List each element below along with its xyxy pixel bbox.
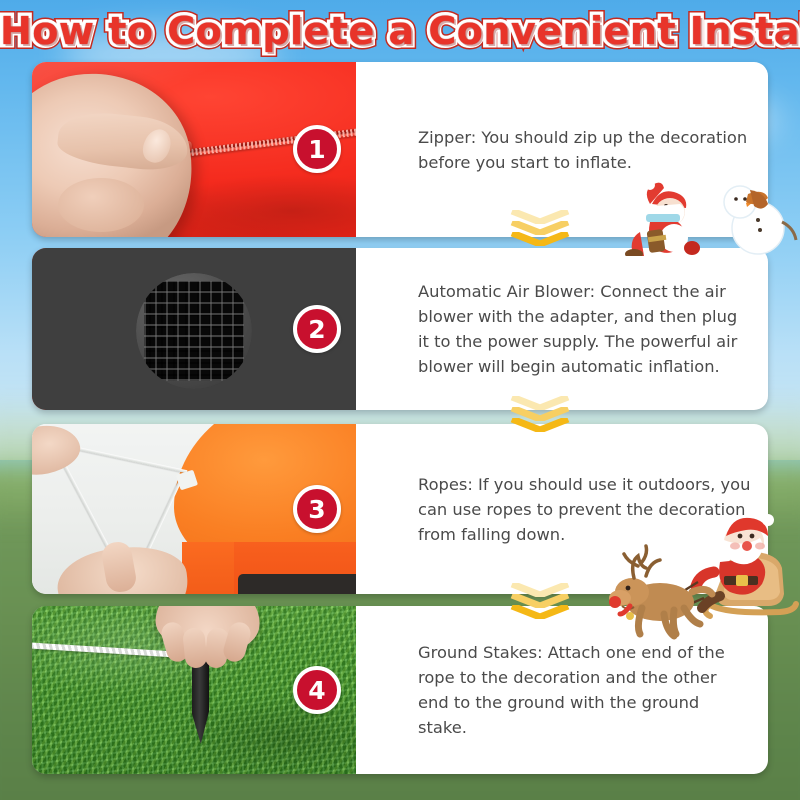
separator-chevrons-1 — [510, 210, 570, 244]
step-text-container-2: Automatic Air Blower: Connect the air bl… — [356, 248, 768, 410]
chevron-down-icon — [510, 605, 570, 619]
chevron-down-icon — [510, 232, 570, 246]
santa-and-snowman-illustration — [600, 176, 800, 256]
page-title: How to Complete a Convenient Install? — [0, 8, 800, 54]
step-number-badge-4: 4 — [293, 666, 341, 714]
step-description-1: Zipper: You should zip up the decoration… — [418, 125, 752, 175]
separator-chevrons-3 — [510, 583, 570, 617]
step-description-2: Automatic Air Blower: Connect the air bl… — [418, 279, 752, 379]
step-number-badge-1: 1 — [293, 125, 341, 173]
step-number-badge-3: 3 — [293, 485, 341, 533]
step-card-2[interactable]: Automatic Air Blower: Connect the air bl… — [32, 248, 768, 410]
chevron-down-icon — [510, 418, 570, 432]
step-description-4: Ground Stakes: Attach one end of the rop… — [418, 640, 752, 740]
santa-sleigh-reindeer-illustration — [608, 506, 800, 642]
step-number-badge-2: 2 — [293, 305, 341, 353]
poster-root: How to Complete a Convenient Install? Ho… — [0, 0, 800, 800]
separator-chevrons-2 — [510, 396, 570, 430]
